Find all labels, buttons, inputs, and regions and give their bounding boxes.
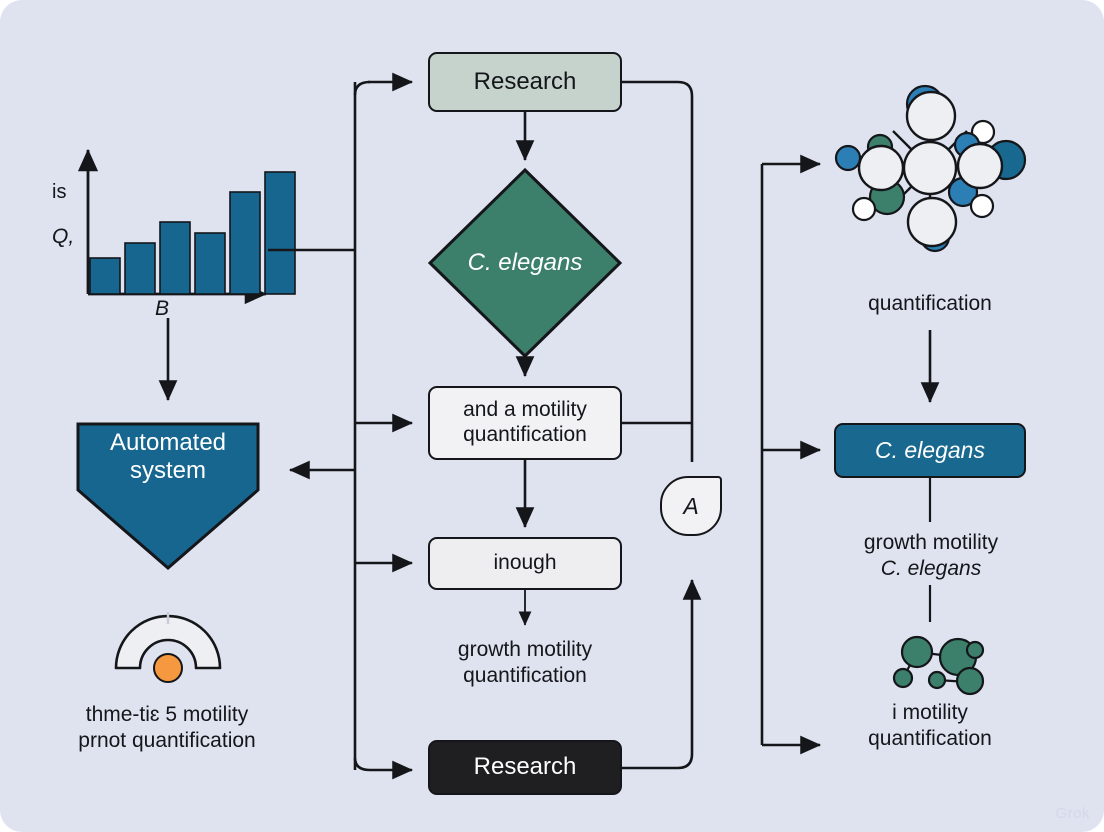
motility-quantification-box[interactable]: and a motility quantification	[428, 386, 622, 460]
gauge-icon	[116, 612, 220, 682]
small-network-icon	[894, 637, 983, 694]
automated-system-label-line2: system	[130, 457, 206, 485]
network-graph-icon	[836, 86, 1025, 251]
automated-system-label-line1: Automated	[110, 429, 226, 457]
growth-caption-right-line2: C. elegans	[818, 556, 1044, 582]
diagram-canvas: is Q, B Automated system thme-tiɛ 5 moti…	[0, 0, 1104, 832]
growth-caption-center-line2: quantification	[409, 663, 641, 689]
research-bottom-box[interactable]: Research	[428, 740, 622, 795]
motility-box-line2: quantification	[463, 423, 587, 448]
growth-motility-caption-right: growth motility C. elegans	[818, 530, 1044, 581]
growth-caption-right-line1: growth motility	[818, 530, 1044, 556]
research-top-box[interactable]: Research	[428, 52, 622, 112]
right-spine	[762, 164, 820, 745]
bottom-caption-right-line1: i motility	[820, 700, 1040, 726]
bottom-motility-caption-right: i motility quantification	[820, 700, 1040, 751]
connector-marker-a[interactable]: A	[660, 476, 722, 536]
growth-caption-center-line1: growth motility	[409, 637, 641, 663]
bottom-caption-right-line2: quantification	[820, 726, 1040, 752]
watermark: Grok	[1055, 805, 1090, 822]
automated-system-node[interactable]: Automated system	[78, 424, 258, 490]
gauge-caption-line2: prnot quantification	[42, 728, 292, 754]
network-quantification-caption: quantification	[820, 291, 1040, 317]
chart-ylabel-bottom: Q,	[52, 225, 74, 249]
motility-box-line1: and a motility	[463, 398, 587, 423]
gauge-caption: thme-tiɛ 5 motility prnot quantification	[42, 702, 292, 753]
chart-ylabel-top: is	[52, 181, 66, 204]
chart-xlabel: B	[155, 297, 169, 321]
chart-bars	[90, 172, 295, 294]
decision-label-text: C. elegans	[468, 249, 583, 277]
gauge-caption-line1: thme-tiɛ 5 motility	[42, 702, 292, 728]
inough-box[interactable]: inough	[428, 537, 622, 590]
decision-diamond-label[interactable]: C. elegans	[440, 243, 610, 283]
growth-motility-caption-center: growth motility quantification	[409, 637, 641, 688]
celegans-right-box[interactable]: C. elegans	[834, 423, 1026, 478]
connector-research-loop-right	[622, 82, 692, 462]
